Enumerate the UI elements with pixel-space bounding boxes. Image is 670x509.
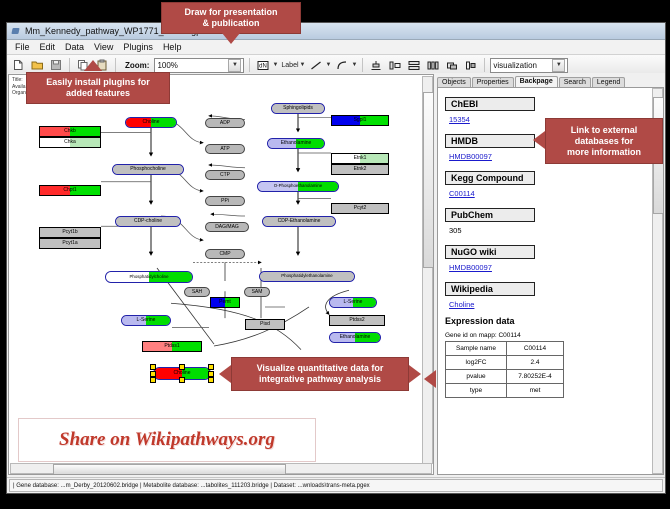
title-bar: Mm_Kennedy_pathway_WP1771_45176.gpml bbox=[7, 23, 665, 40]
chevron-down-icon[interactable]: ▼ bbox=[325, 62, 331, 68]
node-label: DAG/MAG bbox=[215, 225, 239, 230]
row-value: 2.4 bbox=[507, 356, 564, 370]
node-label: Etnk1 bbox=[354, 156, 367, 161]
metabolite-node-sphingolipids[interactable]: Sphingolipids bbox=[271, 103, 325, 114]
node-label: L-Serine bbox=[137, 318, 156, 323]
metabolite-node-l_serine_right[interactable]: L-Serine bbox=[329, 297, 377, 308]
callout-arrow-up-plugins bbox=[84, 60, 102, 71]
gene-node-ptdss2[interactable]: Ptdss2 bbox=[329, 315, 385, 326]
node-label: CMP bbox=[219, 252, 230, 257]
database-name: Kegg Compound bbox=[445, 171, 535, 185]
database-entry-wikipedia: Wikipedia Choline bbox=[445, 279, 647, 309]
node-label: PPi bbox=[221, 199, 229, 204]
selection-handle[interactable] bbox=[208, 371, 214, 377]
metabolite-node-ethanolamine_top[interactable]: Ethanolamine bbox=[267, 138, 325, 149]
chevron-down-icon[interactable]: ▼ bbox=[228, 59, 241, 72]
database-name: NuGO wiki bbox=[445, 245, 535, 259]
toolbar-separator bbox=[484, 58, 485, 72]
node-label: Chkb bbox=[64, 129, 76, 134]
gene-node-etnk1[interactable]: Etnk1 bbox=[331, 153, 389, 164]
line-dropdown[interactable]: ▼ bbox=[308, 57, 331, 73]
node-label: Ptdss1 bbox=[164, 344, 179, 349]
menu-item-edit[interactable]: Edit bbox=[35, 42, 61, 52]
svg-text:dN: dN bbox=[260, 63, 268, 69]
gene-node-chpt1[interactable]: Chpt1 bbox=[39, 185, 101, 196]
node-label: CDP-Ethanolamine bbox=[278, 219, 321, 224]
cofactor-node-atp[interactable]: ATP bbox=[205, 144, 245, 154]
callout-text: Link to external databases for more info… bbox=[567, 125, 641, 158]
metabolite-node-choline_top[interactable]: Choline bbox=[125, 117, 177, 128]
pathway-canvas[interactable]: Title: Availa Organi bbox=[9, 75, 433, 474]
toolbar-separator bbox=[69, 58, 70, 72]
callout-visualize: Visualize quantitative data for integrat… bbox=[231, 357, 409, 391]
metabolite-node-cdp_choline[interactable]: CDP-choline bbox=[115, 216, 181, 227]
order-icon[interactable] bbox=[444, 57, 460, 73]
selection-handle[interactable] bbox=[179, 377, 185, 383]
zoom-label: Zoom: bbox=[125, 61, 149, 70]
database-entry-kegg: Kegg Compound C00114 bbox=[445, 168, 647, 198]
scroll-thumb-vertical[interactable] bbox=[423, 92, 434, 268]
node-label: ATP bbox=[220, 147, 229, 152]
menu-item-data[interactable]: Data bbox=[60, 42, 89, 52]
toolbar-separator bbox=[249, 58, 250, 72]
arc-icon[interactable] bbox=[334, 57, 350, 73]
database-entry-nugo: NuGO wiki HMDB00097 bbox=[445, 242, 647, 272]
node-label: Ethanolamine bbox=[340, 335, 371, 340]
callout-links: Link to external databases for more info… bbox=[545, 118, 663, 164]
selection-handle[interactable] bbox=[208, 377, 214, 383]
node-label: ADP bbox=[220, 121, 230, 126]
pathvisio-icon bbox=[11, 26, 21, 36]
node-label: Phosphatidylcholine bbox=[129, 275, 168, 279]
node-label: Ethanolamine bbox=[281, 141, 312, 146]
visualization-combobox[interactable]: visualization ▼ bbox=[490, 58, 568, 73]
row-value: met bbox=[507, 384, 564, 398]
node-label: Ptdss2 bbox=[349, 318, 364, 323]
menu-item-plugins[interactable]: Plugins bbox=[118, 42, 158, 52]
zoom-value: 100% bbox=[157, 61, 228, 70]
stack-vertical-icon[interactable] bbox=[406, 57, 422, 73]
callout-text: Visualize quantitative data for integrat… bbox=[257, 363, 384, 385]
database-name: Wikipedia bbox=[445, 282, 535, 296]
cofactor-node-cmp[interactable]: CMP bbox=[205, 249, 245, 259]
selection-handle[interactable] bbox=[150, 364, 156, 370]
metabolite-node-phosphatidylcholine[interactable]: Phosphatidylcholine bbox=[105, 271, 193, 283]
tab-properties[interactable]: Properties bbox=[472, 77, 514, 87]
row-key: pvalue bbox=[446, 370, 507, 384]
table-row: pvalue 7.80252E-4 bbox=[446, 370, 564, 384]
node-label: Pcyt1a bbox=[62, 241, 77, 246]
distribute-icon[interactable] bbox=[425, 57, 441, 73]
cofactor-node-ppi[interactable]: PPi bbox=[205, 196, 245, 206]
new-file-icon[interactable] bbox=[10, 57, 26, 73]
metabolite-node-l_serine_left[interactable]: L-Serine bbox=[121, 315, 171, 326]
canvas-vertical-scrollbar[interactable] bbox=[422, 76, 433, 464]
selection-handle[interactable] bbox=[150, 377, 156, 383]
line-icon[interactable] bbox=[308, 57, 324, 73]
callout-arrow-left-expression bbox=[424, 370, 436, 388]
selection-handle[interactable] bbox=[179, 364, 185, 370]
toolbar-separator bbox=[362, 58, 363, 72]
node-label: L-Serine bbox=[344, 300, 363, 305]
tab-backpage[interactable]: Backpage bbox=[515, 76, 558, 87]
database-link[interactable]: C00114 bbox=[449, 189, 647, 198]
chevron-down-icon[interactable]: ▼ bbox=[351, 62, 357, 68]
selection-handle[interactable] bbox=[208, 364, 214, 370]
bring-front-icon[interactable] bbox=[463, 57, 479, 73]
zoom-combobox[interactable]: 100% ▼ bbox=[154, 58, 244, 73]
node-label: Choline bbox=[143, 120, 160, 125]
gene-node-pcyt2[interactable]: Pcyt2 bbox=[331, 203, 389, 214]
node-label: Chka bbox=[64, 140, 76, 145]
meta-organism: Organi bbox=[12, 90, 27, 97]
open-folder-icon[interactable] bbox=[29, 57, 45, 73]
node-label: Pisd bbox=[260, 322, 270, 327]
node-label: Pcyt1b bbox=[62, 230, 77, 235]
callout-draw: Draw for presentation & publication bbox=[161, 2, 301, 34]
node-label: Pemt bbox=[219, 300, 231, 305]
status-bar: | Gene database: ...m_Derby_20120602.bri… bbox=[7, 477, 665, 493]
toolbar-separator bbox=[115, 58, 116, 72]
gene-node-pemt[interactable]: Pemt bbox=[210, 297, 240, 308]
gene-node-pcyt1a[interactable]: Pcyt1a bbox=[39, 238, 101, 249]
metabolite-node-cdp_ethanolamine[interactable]: CDP-Ethanolamine bbox=[262, 216, 336, 227]
node-label: CTP bbox=[220, 173, 230, 178]
database-name: ChEBI bbox=[445, 97, 535, 111]
scroll-thumb-horizontal[interactable] bbox=[53, 464, 286, 475]
callout-arrow-down-draw bbox=[222, 33, 240, 44]
menu-item-help[interactable]: Help bbox=[158, 42, 187, 52]
chevron-down-icon[interactable]: ▼ bbox=[272, 62, 278, 68]
metabolite-node-o_phosphoethanolamine[interactable]: O-Phosphoethanolamine bbox=[257, 181, 339, 192]
datanode-icon[interactable]: dN bbox=[255, 57, 271, 73]
group-icon[interactable] bbox=[387, 57, 403, 73]
datanode-dropdown[interactable]: dN ▼ bbox=[255, 57, 278, 73]
arc-dropdown[interactable]: ▼ bbox=[334, 57, 357, 73]
align-bottom-icon[interactable] bbox=[368, 57, 384, 73]
callout-arrow-left-links bbox=[533, 131, 545, 149]
tab-legend[interactable]: Legend bbox=[592, 77, 625, 87]
metabolite-node-phosphocholine[interactable]: Phosphocholine bbox=[112, 164, 184, 175]
save-disk-icon[interactable] bbox=[48, 57, 64, 73]
metabolite-node-phosphatidylethanolamine[interactable]: Phosphatidylethanolamine bbox=[259, 271, 355, 282]
metabolite-node-ethanolamine_right[interactable]: Ethanolamine bbox=[329, 332, 381, 343]
side-panel-tabs: Objects Properties Backpage Search Legen… bbox=[435, 74, 664, 87]
table-row: log2FC 2.4 bbox=[446, 356, 564, 370]
menu-item-file[interactable]: File bbox=[10, 42, 35, 52]
chevron-down-icon[interactable]: ▼ bbox=[552, 59, 565, 72]
pathway-canvas-container[interactable]: Title: Availa Organi bbox=[8, 74, 434, 475]
gene-node-pisd[interactable]: Pisd bbox=[245, 319, 285, 330]
expression-table: Sample name C00114 log2FC 2.4 pvalue 7.8… bbox=[445, 341, 564, 398]
node-label: Phosphocholine bbox=[130, 167, 166, 172]
row-value: 7.80252E-4 bbox=[507, 370, 564, 384]
database-link[interactable]: Choline bbox=[449, 300, 647, 309]
callout-text: Easily install plugins for added feature… bbox=[46, 77, 150, 99]
node-label: SAM bbox=[252, 290, 263, 295]
table-row: Sample name C00114 bbox=[446, 342, 564, 356]
chevron-down-icon[interactable]: ▼ bbox=[300, 62, 306, 68]
gene-node-sgpl1[interactable]: Sgpl1 bbox=[331, 115, 389, 126]
gene-node-chkb[interactable]: Chkb bbox=[39, 126, 101, 137]
gene-node-chka[interactable]: Chka bbox=[39, 137, 101, 148]
callout-text: Draw for presentation & publication bbox=[184, 7, 277, 29]
tab-search[interactable]: Search bbox=[559, 77, 591, 87]
selection-handle[interactable] bbox=[150, 371, 156, 377]
database-name: HMDB bbox=[445, 134, 535, 148]
node-label: Sphingolipids bbox=[283, 106, 313, 111]
menu-item-view[interactable]: View bbox=[89, 42, 118, 52]
menu-bar: File Edit Data View Plugins Help bbox=[7, 40, 665, 55]
tab-objects[interactable]: Objects bbox=[437, 77, 471, 87]
visualization-value: visualization bbox=[493, 61, 552, 70]
gene-node-ptdss1[interactable]: Ptdss1 bbox=[142, 341, 202, 352]
pathway-metadata: Title: Availa Organi bbox=[12, 77, 27, 97]
node-label: Pcyt2 bbox=[354, 206, 367, 211]
gene-id-line: Gene id on mapp: C00114 bbox=[445, 332, 647, 339]
label-dropdown[interactable]: Label ▼ bbox=[281, 62, 305, 69]
node-label: Etnk2 bbox=[354, 167, 367, 172]
node-label: Sgpl1 bbox=[354, 118, 367, 123]
database-value: 305 bbox=[449, 226, 647, 235]
row-key: Sample name bbox=[446, 342, 507, 356]
node-label: CDP-choline bbox=[134, 219, 162, 224]
callout-arrow-left-visualize bbox=[219, 365, 231, 383]
node-label: Phosphatidylethanolamine bbox=[281, 274, 333, 278]
label-caption: Label bbox=[281, 62, 298, 69]
share-text: Share on Wikipathways.org bbox=[59, 429, 275, 451]
callout-plugins: Easily install plugins for added feature… bbox=[26, 72, 170, 104]
canvas-horizontal-scrollbar[interactable] bbox=[10, 463, 432, 474]
cofactor-node-adp[interactable]: ADP bbox=[205, 118, 245, 128]
table-row: type met bbox=[446, 384, 564, 398]
cofactor-node-sam[interactable]: SAM bbox=[244, 287, 270, 297]
share-banner: Share on Wikipathways.org bbox=[18, 418, 316, 462]
cofactor-node-sah[interactable]: SAH bbox=[184, 287, 210, 297]
node-label: SAH bbox=[192, 290, 202, 295]
row-key: log2FC bbox=[446, 356, 507, 370]
database-link[interactable]: HMDB00097 bbox=[449, 263, 647, 272]
gene-node-etnk2[interactable]: Etnk2 bbox=[331, 164, 389, 175]
cofactor-node-dag-mag[interactable]: DAG/MAG bbox=[205, 222, 249, 232]
node-label: Chpt1 bbox=[63, 188, 76, 193]
node-label: Choline bbox=[174, 371, 191, 376]
database-name: PubChem bbox=[445, 208, 535, 222]
status-text: | Gene database: ...m_Derby_20120602.bri… bbox=[9, 479, 663, 492]
expression-data-heading: Expression data bbox=[445, 316, 647, 326]
row-value: C00114 bbox=[507, 342, 564, 356]
node-label: O-Phosphoethanolamine bbox=[274, 184, 323, 188]
database-entry-pubchem: PubChem 305 bbox=[445, 205, 647, 235]
row-key: type bbox=[446, 384, 507, 398]
callout-arrow-right-visualize bbox=[409, 365, 421, 383]
gene-node-pcyt1b[interactable]: Pcyt1b bbox=[39, 227, 101, 238]
cofactor-node-ctp[interactable]: CTP bbox=[205, 170, 245, 180]
